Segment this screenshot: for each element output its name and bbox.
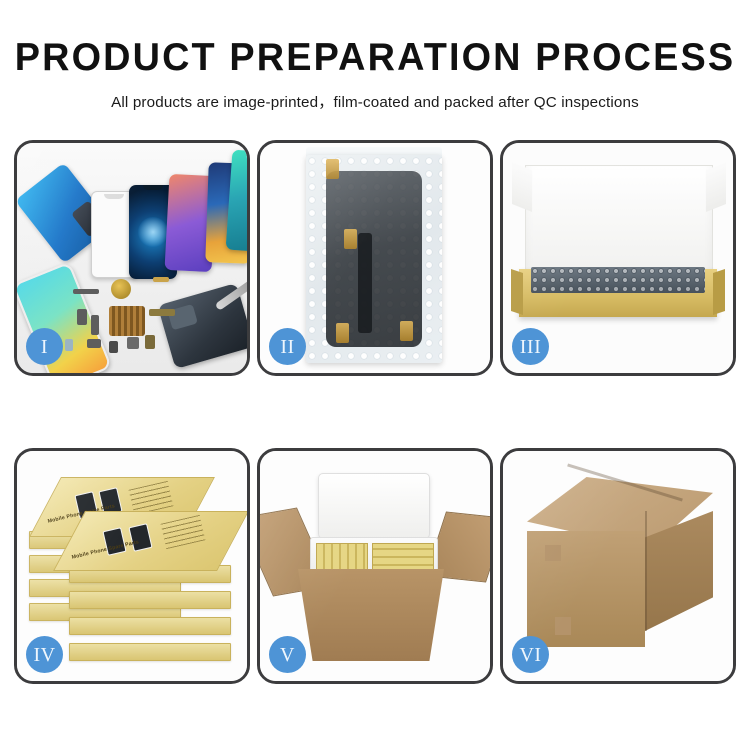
step-panel-5[interactable]: V xyxy=(257,448,493,684)
page-subtitle: All products are image-printed，film-coat… xyxy=(0,90,750,112)
process-steps-grid: I II xyxy=(14,140,736,684)
tape-bottom-icon xyxy=(555,617,571,635)
step-badge-5: V xyxy=(269,636,306,673)
speaker-coil-icon xyxy=(111,279,131,299)
page-header: PRODUCT PREPARATION PROCESS All products… xyxy=(0,0,750,112)
box-lid-icon xyxy=(525,165,713,283)
step-panel-2[interactable]: II xyxy=(257,140,493,376)
bubble-wrap-bag-icon xyxy=(306,155,442,363)
logic-board-icon xyxy=(109,306,145,336)
tape-top-icon xyxy=(545,545,561,561)
page-title: PRODUCT PREPARATION PROCESS xyxy=(11,38,739,77)
step-badge-2: II xyxy=(269,328,306,365)
box-stack-icon: Mobile Phone Spare Parts Mobile Phone Sp… xyxy=(27,473,239,663)
step-panel-4[interactable]: Mobile Phone Spare Parts Mobile Phone Sp… xyxy=(14,448,250,684)
step-badge-4: IV xyxy=(26,636,63,673)
step-panel-6[interactable]: VI xyxy=(500,448,736,684)
foam-lid-icon xyxy=(318,473,430,539)
step-panel-3[interactable]: III xyxy=(500,140,736,376)
product-preparation-process-page: PRODUCT PREPARATION PROCESS All products… xyxy=(0,0,750,750)
bubble-wrapped-contents-icon xyxy=(531,267,705,293)
step-badge-6: VI xyxy=(512,636,549,673)
step-panel-1[interactable]: I xyxy=(14,140,250,376)
shipping-carton-icon xyxy=(298,569,444,661)
step-badge-1: I xyxy=(26,328,63,365)
step-badge-3: III xyxy=(512,328,549,365)
